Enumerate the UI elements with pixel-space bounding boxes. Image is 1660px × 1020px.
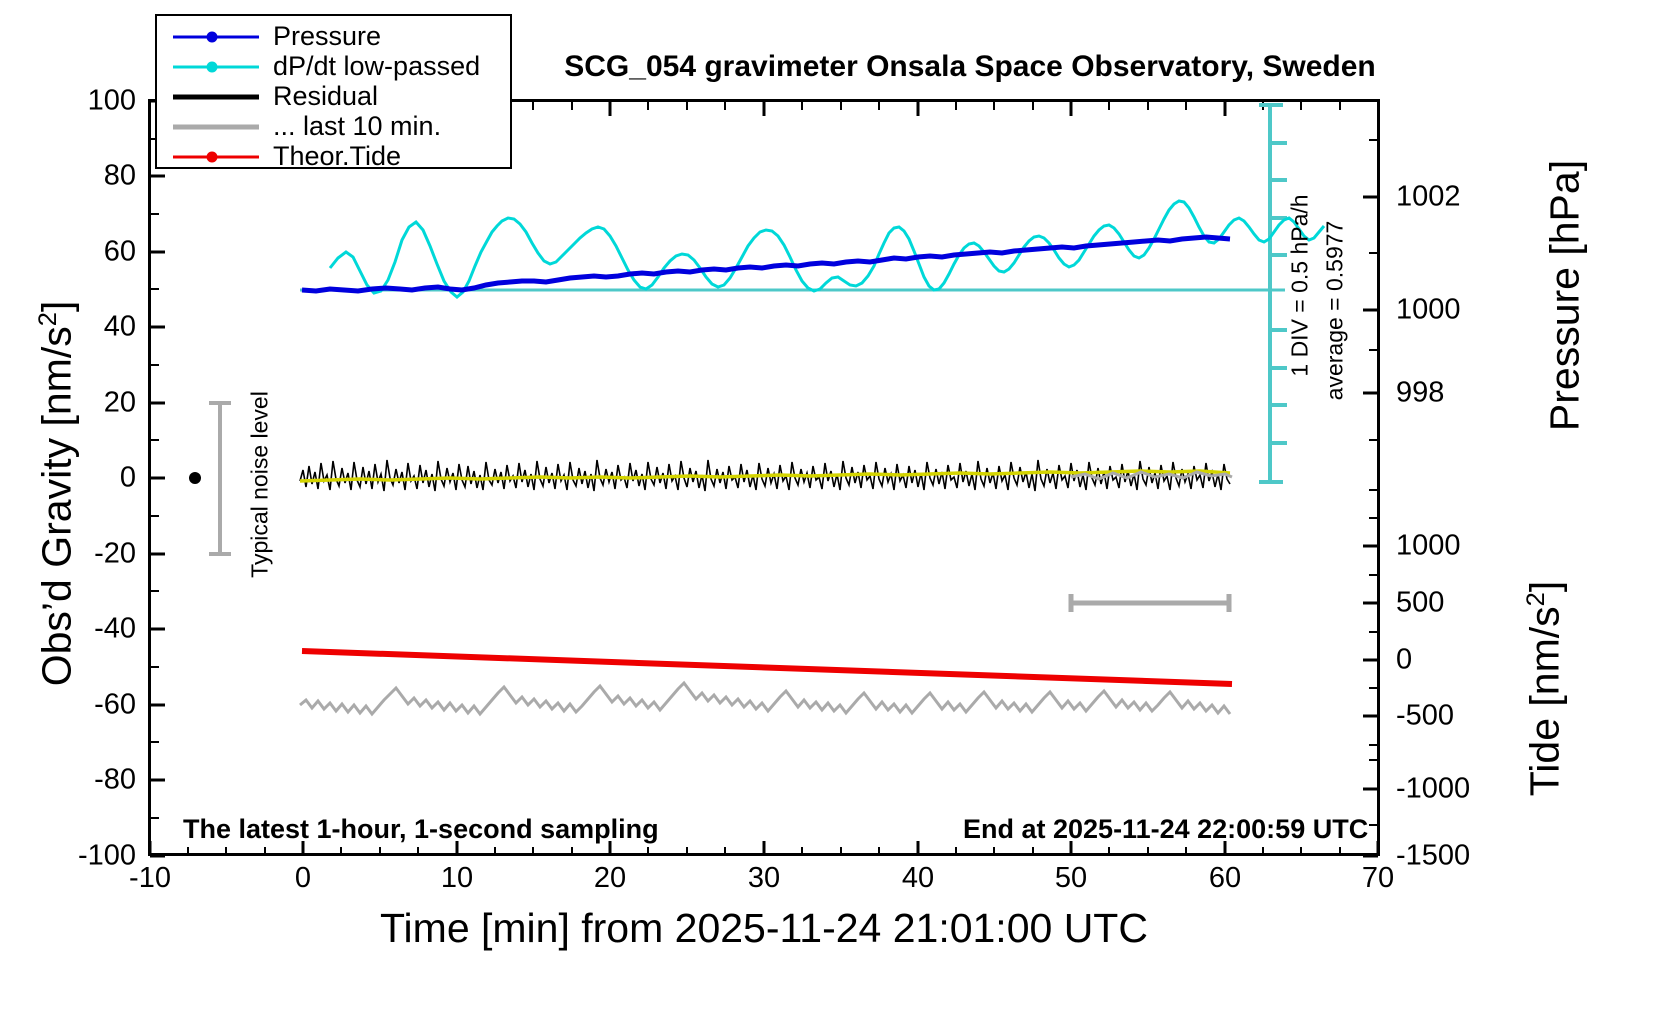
y-axis-right-tide-labels: 1000 500 0 -500 -1000 -1500 bbox=[1396, 0, 1526, 1020]
y-tick-tide-2: 0 bbox=[1396, 646, 1412, 675]
legend-item-dpdt[interactable]: dP/dt low-passed bbox=[157, 52, 510, 81]
legend-label-residual: Residual bbox=[273, 81, 378, 112]
y-tick-left-1: 80 bbox=[104, 162, 136, 191]
plot-area bbox=[148, 99, 1380, 856]
y-tick-left-9: -80 bbox=[94, 766, 136, 795]
y-axis-title-tide-text: Tide [nm/s2] bbox=[1522, 581, 1568, 796]
annotation-end-time: End at 2025-11-24 22:00:59 UTC bbox=[963, 814, 1368, 845]
legend-item-residual[interactable]: Residual bbox=[157, 82, 510, 111]
x-tick-2: 10 bbox=[441, 864, 473, 893]
x-tick-3: 20 bbox=[594, 864, 626, 893]
y-tick-tide-5: -1500 bbox=[1396, 842, 1470, 871]
legend-label-pressure: Pressure bbox=[273, 21, 381, 52]
legend: Pressure dP/dt low-passed Residual ... l… bbox=[155, 14, 512, 169]
y-tick-left-4: 20 bbox=[104, 389, 136, 418]
x-axis-title: Time [min] from 2025-11-24 21:01:00 UTC bbox=[148, 905, 1380, 952]
annotation-typical-noise-level: Typical noise level bbox=[247, 355, 274, 615]
chart-page: SCG_054 gravimeter Onsala Space Observat… bbox=[0, 0, 1660, 1020]
y-tick-left-5: 0 bbox=[120, 464, 136, 493]
y-axis-title-pressure: Pressure [hPa] bbox=[1542, 86, 1589, 506]
y-tick-left-8: -60 bbox=[94, 691, 136, 720]
x-tick-5: 40 bbox=[902, 864, 934, 893]
x-tick-6: 50 bbox=[1055, 864, 1087, 893]
y-axis-title-tide: Tide [nm/s2] bbox=[1522, 499, 1569, 879]
y-axis-title-left-text: Obs’d Gravity [nm/s2] bbox=[34, 301, 80, 687]
legend-label-theor-tide: Theor.Tide bbox=[273, 141, 401, 172]
legend-swatch-dpdt bbox=[173, 56, 259, 78]
annotation-sampling-info: The latest 1-hour, 1-second sampling bbox=[183, 814, 659, 845]
y-tick-tide-3: -500 bbox=[1396, 702, 1454, 731]
y-tick-tide-4: -1000 bbox=[1396, 775, 1470, 804]
legend-item-pressure[interactable]: Pressure bbox=[157, 22, 510, 51]
legend-swatch-last10 bbox=[173, 116, 259, 138]
legend-label-dpdt: dP/dt low-passed bbox=[273, 51, 480, 82]
legend-swatch-residual bbox=[173, 86, 259, 108]
y-tick-left-0: 100 bbox=[88, 87, 136, 116]
legend-item-last10[interactable]: ... last 10 min. bbox=[157, 112, 510, 141]
annotation-average: average = 0.5977 bbox=[1322, 181, 1349, 441]
x-tick-7: 60 bbox=[1209, 864, 1241, 893]
legend-swatch-theor-tide bbox=[173, 146, 259, 168]
y-tick-left-6: -20 bbox=[94, 540, 136, 569]
chart-title: SCG_054 gravimeter Onsala Space Observat… bbox=[440, 50, 1500, 84]
legend-swatch-pressure bbox=[173, 26, 259, 48]
y-tick-tide-1: 500 bbox=[1396, 589, 1444, 618]
y-tick-left-3: 40 bbox=[104, 313, 136, 342]
x-tick-4: 30 bbox=[748, 864, 780, 893]
x-tick-1: 0 bbox=[295, 864, 311, 893]
y-axis-title-left: Obs’d Gravity [nm/s2] bbox=[34, 194, 81, 794]
x-tick-8: 70 bbox=[1362, 864, 1394, 893]
x-tick-0: -10 bbox=[129, 864, 171, 893]
legend-label-last10: ... last 10 min. bbox=[273, 111, 441, 142]
y-tick-left-2: 60 bbox=[104, 238, 136, 267]
y-tick-tide-0: 1000 bbox=[1396, 532, 1461, 561]
annotation-div-scale: 1 DIV = 0.5 hPa/h bbox=[1287, 156, 1314, 416]
y-tick-left-10: -100 bbox=[78, 842, 136, 871]
y-tick-left-7: -40 bbox=[94, 615, 136, 644]
legend-item-theor-tide[interactable]: Theor.Tide bbox=[157, 142, 510, 171]
